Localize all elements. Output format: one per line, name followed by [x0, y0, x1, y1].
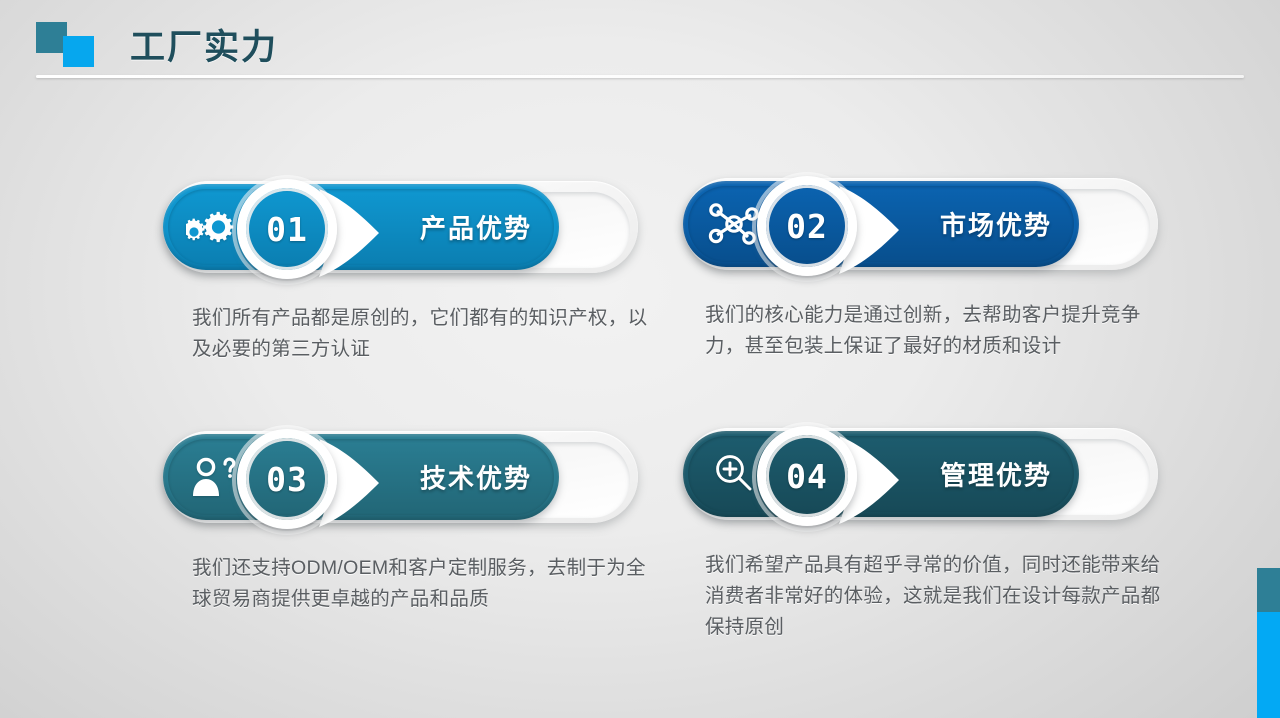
card-bar: 02 市场优势	[683, 175, 1193, 277]
accent-bar-bottom	[1257, 612, 1280, 718]
card-description: 我们希望产品具有超乎寻常的价值，同时还能带来给消费者非常好的体验，这就是我们在设…	[705, 550, 1175, 643]
card-number: 03	[237, 429, 337, 529]
number-badge: 02	[757, 176, 905, 284]
card-number: 04	[757, 426, 857, 526]
card-bar: 01 产品优势	[163, 178, 673, 280]
card-caption: 技术优势	[391, 459, 561, 496]
advantage-card-4: 04 管理优势 我们希望产品具有超乎寻常的价值，同时还能带来给消费者非常好的体验…	[683, 425, 1193, 527]
number-badge: 01	[237, 179, 385, 287]
card-description: 我们还支持ODM/OEM和客户定制服务，去制于为全球贸易商提供更卓越的产品和品质	[192, 553, 662, 615]
accent-bar-top	[1257, 568, 1280, 612]
card-number: 01	[237, 179, 337, 279]
advantage-card-1: 01 产品优势 我们所有产品都是原创的，它们都有的知识产权，以及必要的第三方认证	[163, 178, 673, 280]
header-divider	[36, 75, 1244, 78]
number-badge: 03	[237, 429, 385, 537]
advantage-card-3: 03 技术优势 我们还支持ODM/OEM和客户定制服务，去制于为全球贸易商提供更…	[163, 428, 673, 530]
card-number: 02	[757, 176, 857, 276]
card-description: 我们所有产品都是原创的，它们都有的知识产权，以及必要的第三方认证	[192, 303, 662, 365]
page-title: 工厂实力	[130, 19, 278, 70]
card-caption: 产品优势	[391, 209, 561, 246]
card-pill[interactable]: 04 管理优势	[683, 431, 1079, 517]
card-pill[interactable]: 02 市场优势	[683, 181, 1079, 267]
card-pill[interactable]: 03 技术优势	[163, 434, 559, 520]
decorative-square-light	[63, 36, 94, 67]
card-bar: 04 管理优势	[683, 425, 1193, 527]
card-caption: 管理优势	[911, 456, 1081, 493]
number-badge: 04	[757, 426, 905, 534]
card-caption: 市场优势	[911, 206, 1081, 243]
slide-canvas: 工厂实力	[0, 0, 1280, 718]
card-bar: 03 技术优势	[163, 428, 673, 530]
card-description: 我们的核心能力是通过创新，去帮助客户提升竞争力，甚至包装上保证了最好的材质和设计	[705, 300, 1175, 362]
advantage-card-2: 02 市场优势 我们的核心能力是通过创新，去帮助客户提升竞争力，甚至包装上保证了…	[683, 175, 1193, 277]
card-pill[interactable]: 01 产品优势	[163, 184, 559, 270]
